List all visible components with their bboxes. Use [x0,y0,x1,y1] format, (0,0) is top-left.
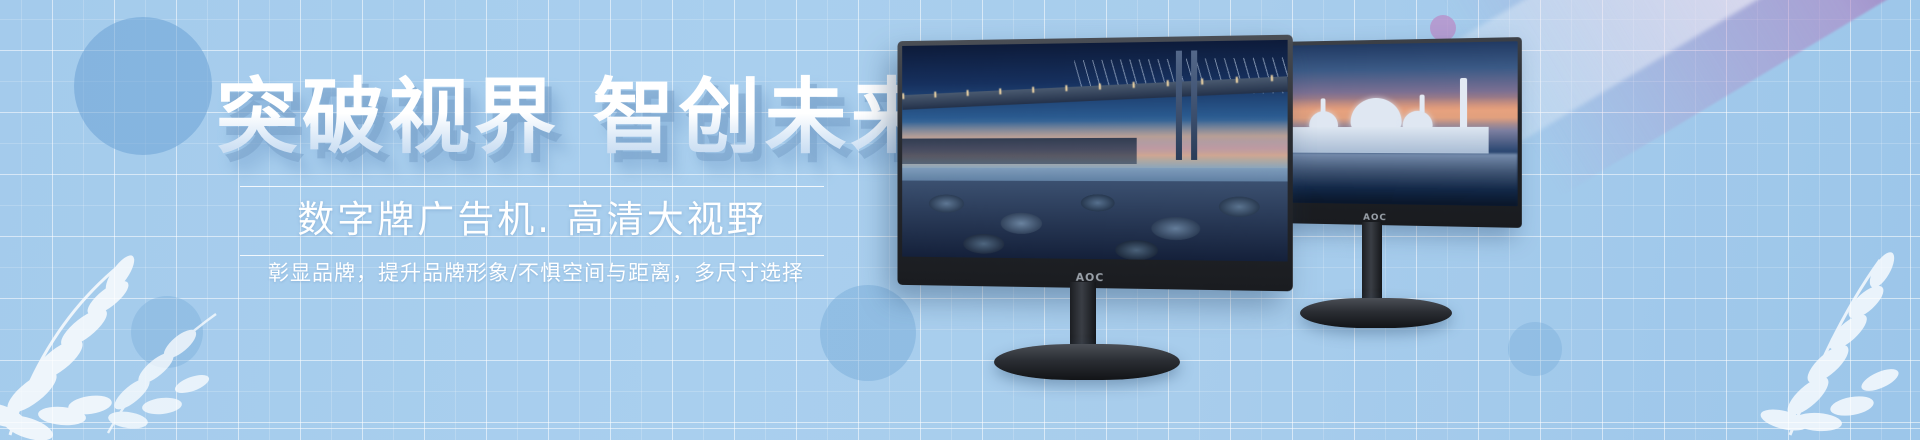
product-showcase: AOC [870,0,1920,440]
mosque-building [1267,127,1489,153]
bridge-rocks [902,181,1287,262]
divider-bottom [240,255,824,256]
front-monitor-screen [902,40,1287,262]
bridge-shoreline [902,138,1136,164]
promo-banner: 突破视界 智创未来 数字牌广告机. 高清大视野 彰显品牌，提升品牌形象/不惧空间… [0,0,1920,440]
front-monitor-bezel: AOC [897,35,1292,292]
back-monitor-base [1300,298,1452,328]
subtitle-group: 数字牌广告机. 高清大视野 [240,186,824,256]
bridge-photo [902,40,1287,262]
text-content-block: 突破视界 智创未来 数字牌广告机. 高清大视野 彰显品牌，提升品牌形象/不惧空间… [0,0,900,440]
subtitle: 数字牌广告机. 高清大视野 [240,187,824,255]
headline: 突破视界 智创未来 [216,72,916,164]
front-monitor: AOC [890,38,1290,358]
front-monitor-base [994,344,1180,380]
tagline: 彰显品牌，提升品牌形象/不惧空间与距离，多尺寸选择 [236,258,836,288]
back-monitor-neck [1362,222,1382,306]
